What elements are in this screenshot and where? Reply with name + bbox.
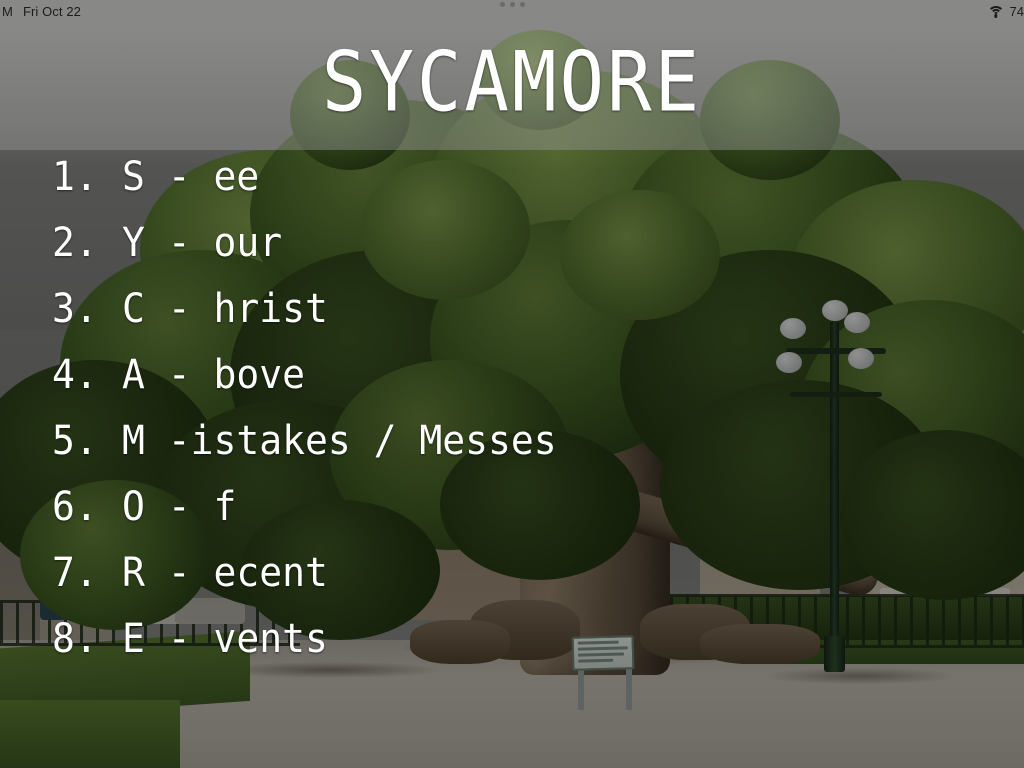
presentation-slide: M Fri Oct 22 74 SYCAMORE 1. S - ee 2. Y … (0, 0, 1024, 768)
list-item-text: S - ee (122, 155, 259, 197)
page-dot-1 (500, 2, 505, 7)
list-item: 7. R - ecent (0, 552, 1024, 618)
list-item-text: A - bove (122, 353, 305, 395)
list-item-text: E - vents (122, 617, 328, 659)
list-item-text: M -istakes / Messes (122, 419, 557, 461)
page-dot-2 (510, 2, 515, 7)
list-item-text: Y - our (122, 221, 282, 263)
list-item: 2. Y - our (0, 222, 1024, 288)
list-item-text: O - f (122, 485, 236, 527)
list-item-number: 5. (52, 419, 122, 461)
ios-status-bar: M Fri Oct 22 74 (0, 0, 1024, 22)
multitasking-page-dots[interactable] (0, 2, 1024, 7)
list-item: 1. S - ee (0, 156, 1024, 222)
list-item: 8. E - vents (0, 618, 1024, 684)
acrostic-list: 1. S - ee 2. Y - our 3. C - hrist 4. A -… (0, 156, 1024, 684)
status-bar-right: 74 (988, 0, 1024, 22)
list-item-number: 8. (52, 617, 122, 659)
list-item-number: 2. (52, 221, 122, 263)
list-item: 4. A - bove (0, 354, 1024, 420)
list-item-text: R - ecent (122, 551, 328, 593)
list-item-number: 4. (52, 353, 122, 395)
list-item: 3. C - hrist (0, 288, 1024, 354)
list-item-number: 3. (52, 287, 122, 329)
list-item-number: 7. (52, 551, 122, 593)
list-item: 5. M -istakes / Messes (0, 420, 1024, 486)
wifi-icon (988, 5, 1005, 18)
list-item: 6. O - f (0, 486, 1024, 552)
list-item-text: C - hrist (122, 287, 328, 329)
battery-percent-label: 74 (1010, 4, 1024, 19)
list-item-number: 1. (52, 155, 122, 197)
page-dot-3 (520, 2, 525, 7)
slide-title: SYCAMORE (0, 40, 1024, 125)
list-item-number: 6. (52, 485, 122, 527)
